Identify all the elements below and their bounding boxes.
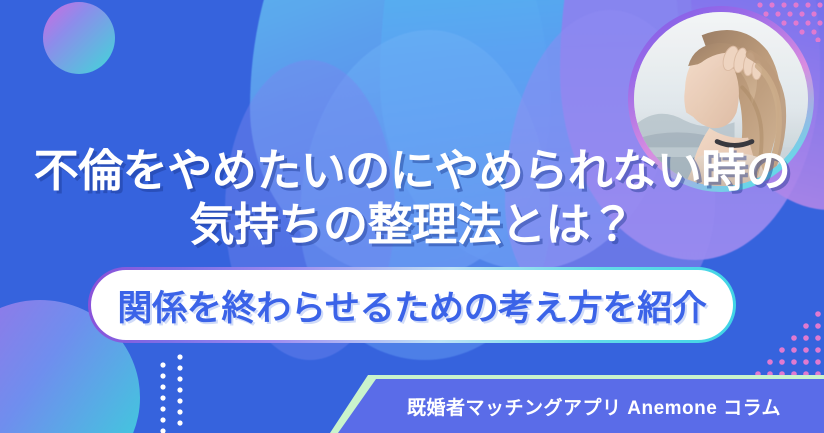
- footer-bar: 既婚者マッチングアプリ Anemone コラム: [330, 375, 824, 433]
- subtitle-pill-inner: 関係を終わらせるための考え方を紹介: [91, 270, 733, 340]
- dot-triangle-icon: [744, 308, 824, 380]
- banner-title: 不倫をやめたいのにやめられない時の 気持ちの整理法とは？: [0, 144, 824, 252]
- subtitle-text: 関係を終わらせるための考え方を紹介: [117, 280, 706, 331]
- dot-columns-icon: [158, 353, 188, 433]
- gradient-circle-icon: [43, 2, 115, 74]
- title-line-2: 気持ちの整理法とは？: [0, 198, 824, 252]
- subtitle-pill: 関係を終わらせるための考え方を紹介: [88, 267, 736, 343]
- article-banner: 不倫をやめたいのにやめられない時の 気持ちの整理法とは？ 関係を終わらせるための…: [0, 0, 824, 433]
- title-line-1: 不倫をやめたいのにやめられない時の: [0, 144, 824, 198]
- footer-bar-body: 既婚者マッチングアプリ Anemone コラム: [338, 379, 824, 433]
- footer-label: 既婚者マッチングアプリ Anemone コラム: [381, 393, 781, 420]
